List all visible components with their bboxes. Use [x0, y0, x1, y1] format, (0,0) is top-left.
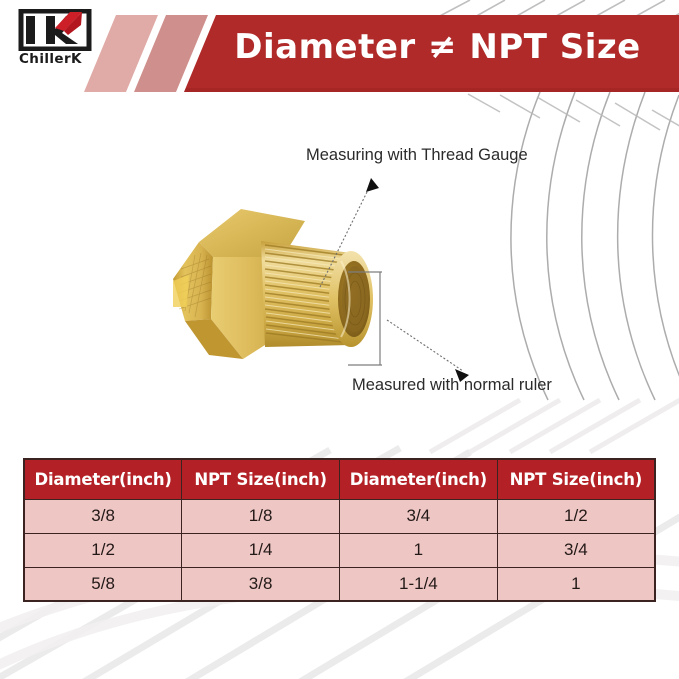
chillerk-logo-icon — [18, 9, 92, 51]
table-row: 3/8 1/8 3/4 1/2 — [24, 499, 655, 533]
cell-diameter-1: 1/2 — [24, 533, 182, 567]
table-row: 5/8 3/8 1-1/4 1 — [24, 567, 655, 601]
cell-npt-1: 3/8 — [182, 567, 340, 601]
cell-diameter-1: 5/8 — [24, 567, 182, 601]
cell-diameter-2: 1-1/4 — [340, 567, 498, 601]
cell-diameter-2: 1 — [340, 533, 498, 567]
column-header-diameter-1: Diameter(inch) — [24, 459, 182, 499]
table-header-row: Diameter(inch) NPT Size(inch) Diameter(i… — [24, 459, 655, 499]
table-row: 1/2 1/4 1 3/4 — [24, 533, 655, 567]
annotation-label-normal-ruler: Measured with normal ruler — [352, 376, 552, 395]
product-illustration: Measuring with Thread Gauge Measured wit… — [0, 100, 679, 452]
column-header-diameter-2: Diameter(inch) — [340, 459, 498, 499]
annotation-label-thread-gauge: Measuring with Thread Gauge — [306, 146, 528, 165]
column-header-npt-size-1: NPT Size(inch) — [182, 459, 340, 499]
brand-logo-text: ChillerK — [19, 51, 99, 67]
page-title: Diameter ≠ NPT Size — [210, 27, 665, 67]
column-header-npt-size-2: NPT Size(inch) — [497, 459, 655, 499]
cell-npt-2: 1/2 — [497, 499, 655, 533]
infographic-page: ChillerK Diameter ≠ NPT Size — [0, 0, 679, 679]
cell-npt-2: 1 — [497, 567, 655, 601]
diameter-npt-size-table: Diameter(inch) NPT Size(inch) Diameter(i… — [23, 458, 656, 602]
cell-npt-1: 1/4 — [182, 533, 340, 567]
cell-diameter-2: 3/4 — [340, 499, 498, 533]
header-banner: ChillerK Diameter ≠ NPT Size — [0, 0, 679, 100]
cell-npt-1: 1/8 — [182, 499, 340, 533]
brand-logo: ChillerK — [18, 9, 98, 71]
cell-npt-2: 3/4 — [497, 533, 655, 567]
cell-diameter-1: 3/8 — [24, 499, 182, 533]
